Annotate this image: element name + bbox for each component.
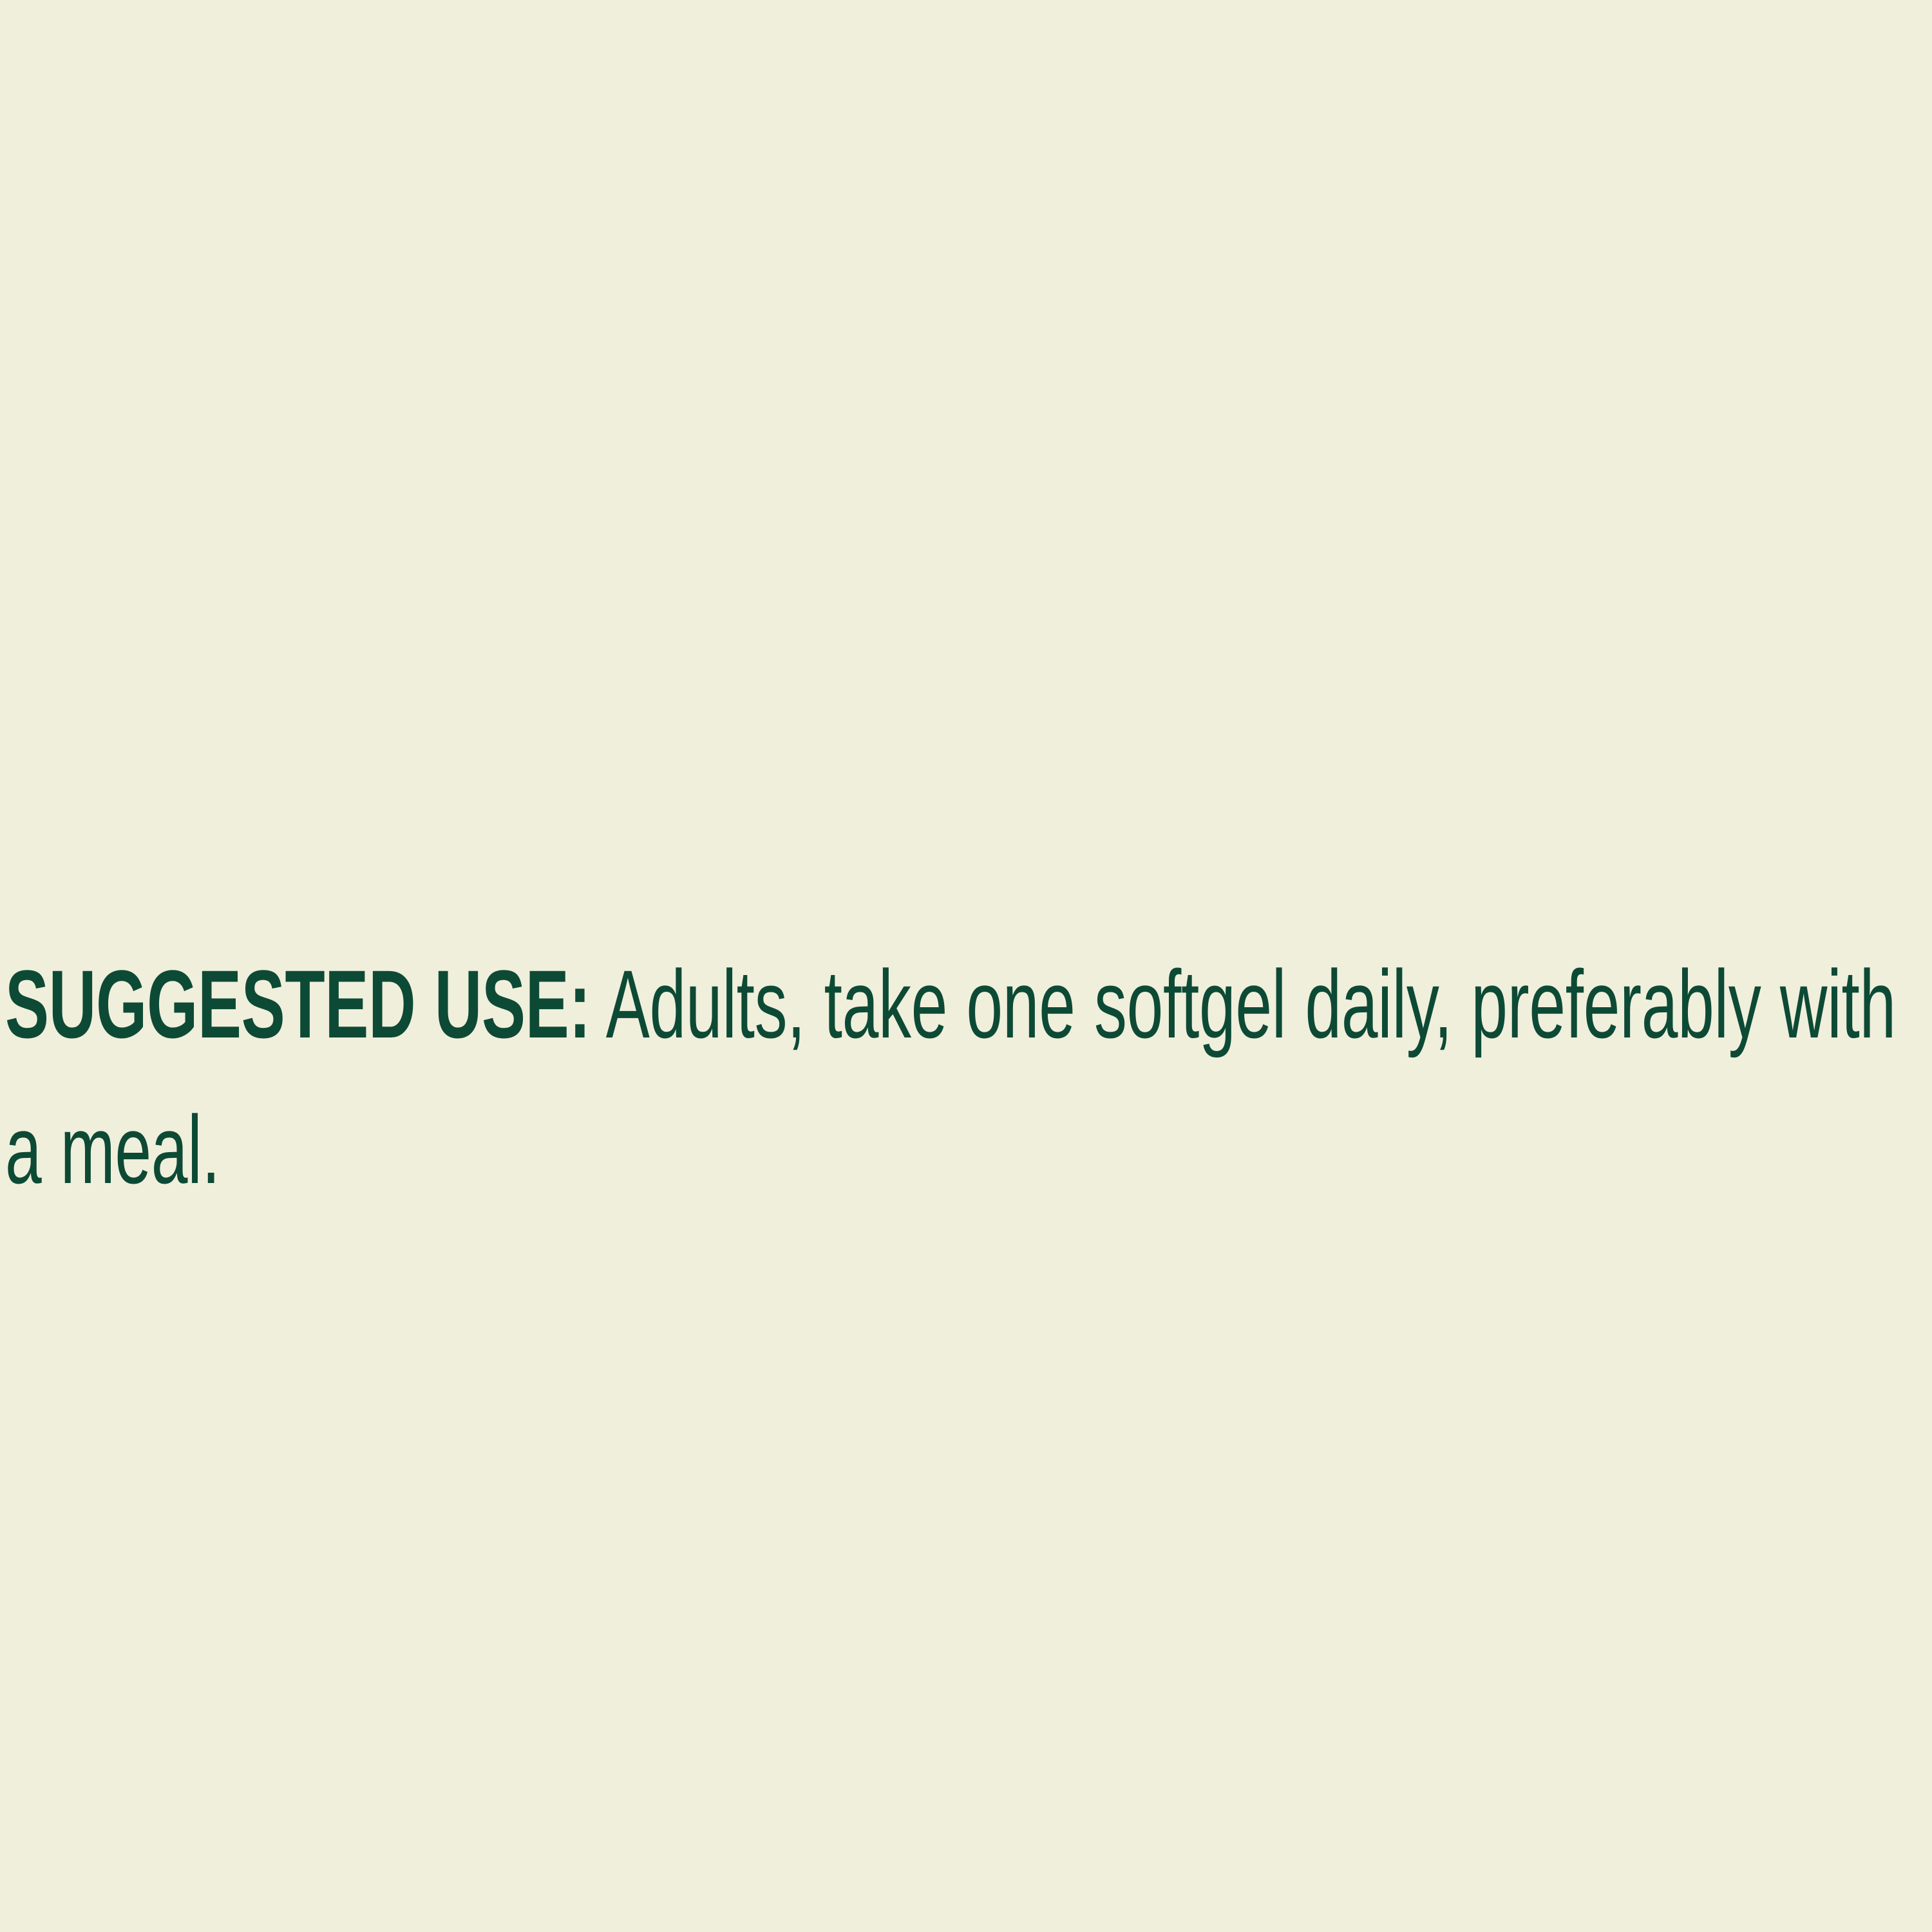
- supplement-label-panel: SUGGESTED USE: Adults, take one softgel …: [0, 0, 1932, 1932]
- suggested-use-heading: SUGGESTED USE:: [5, 950, 591, 1058]
- suggested-use-paragraph: SUGGESTED USE: Adults, take one softgel …: [5, 931, 1932, 1222]
